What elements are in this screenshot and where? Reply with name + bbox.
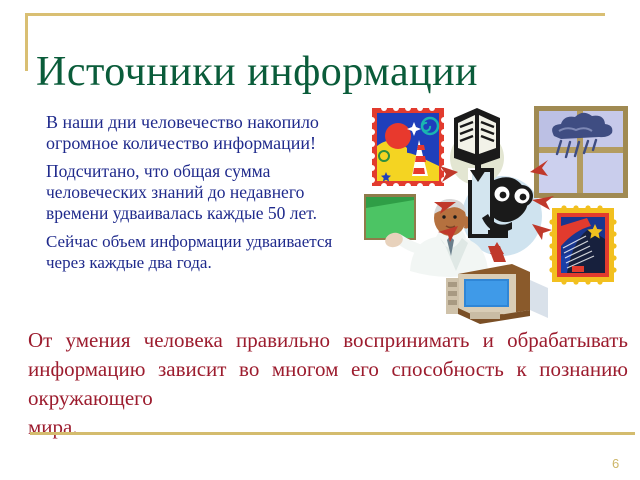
body-paragraph-3: Сейчас объем информации удваивается чере… bbox=[20, 231, 355, 273]
body-paragraph-1: В наши дни человечество накопило огромно… bbox=[20, 112, 355, 154]
emphasis-text-block: От умения человека правильно воспринимат… bbox=[28, 326, 628, 442]
emphasis-text: От умения человека правильно воспринимат… bbox=[28, 326, 628, 413]
information-sources-collage bbox=[362, 96, 638, 324]
body-text-block: В наши дни человечество накопило огромно… bbox=[20, 112, 355, 280]
stamp-art-colorful-icon bbox=[369, 105, 447, 189]
title-rule-left bbox=[25, 13, 28, 71]
title-rule-top bbox=[25, 13, 605, 16]
stamp-telephone-icon bbox=[549, 205, 616, 284]
footer-rule bbox=[30, 432, 635, 435]
open-book-icon bbox=[454, 108, 500, 166]
body-paragraph-2: Подсчитано, что общая сумма человеческих… bbox=[20, 161, 355, 224]
page-title: Источники информации bbox=[36, 48, 606, 96]
page-number: 6 bbox=[612, 456, 619, 471]
emphasis-text-lastline: мира. bbox=[28, 413, 628, 442]
window-with-rain-cloud-icon bbox=[534, 106, 628, 198]
